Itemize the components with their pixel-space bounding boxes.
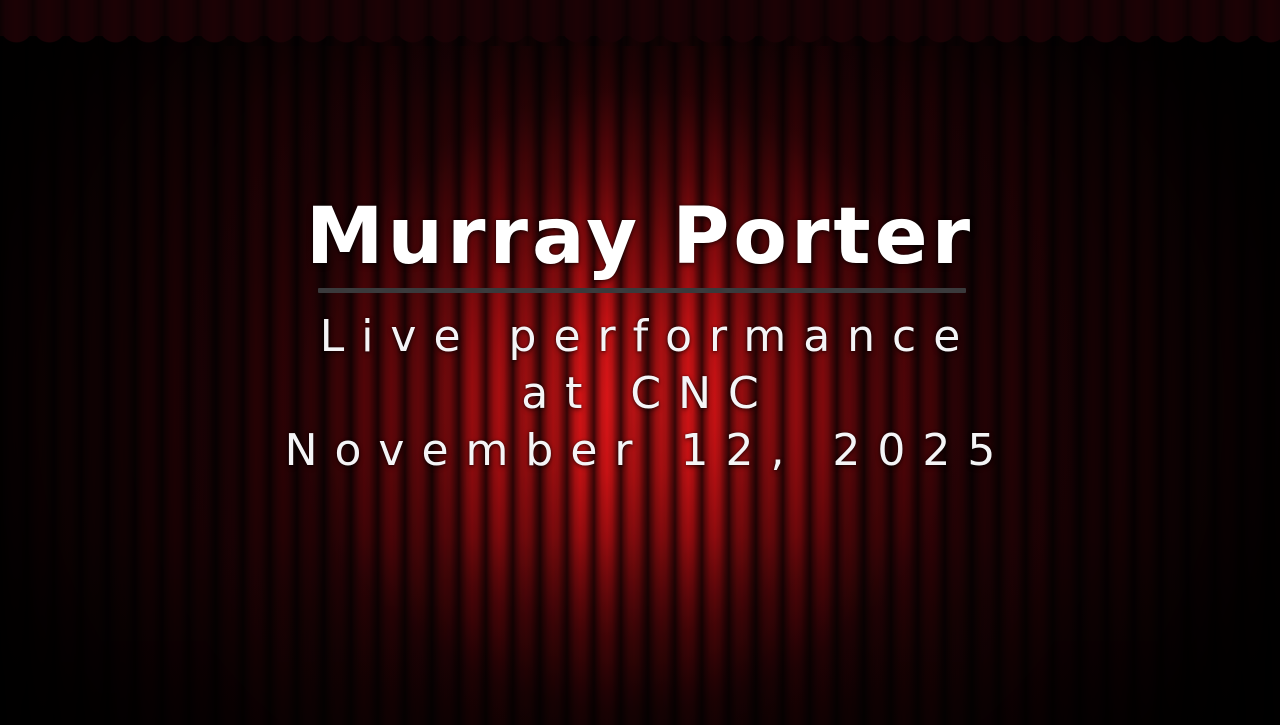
title-divider-rule: [318, 288, 966, 293]
performer-name-title: Murray Porter: [0, 196, 1280, 278]
slide-content: Murray Porter Live performance at CNC No…: [0, 0, 1280, 725]
event-details: Live performance at CNC November 12, 202…: [0, 308, 1280, 479]
title-slide: Murray Porter Live performance at CNC No…: [0, 0, 1280, 725]
event-detail-line-3: November 12, 2025: [0, 422, 1280, 479]
event-detail-line-2: at CNC: [0, 365, 1280, 422]
event-detail-line-1: Live performance: [0, 308, 1280, 365]
